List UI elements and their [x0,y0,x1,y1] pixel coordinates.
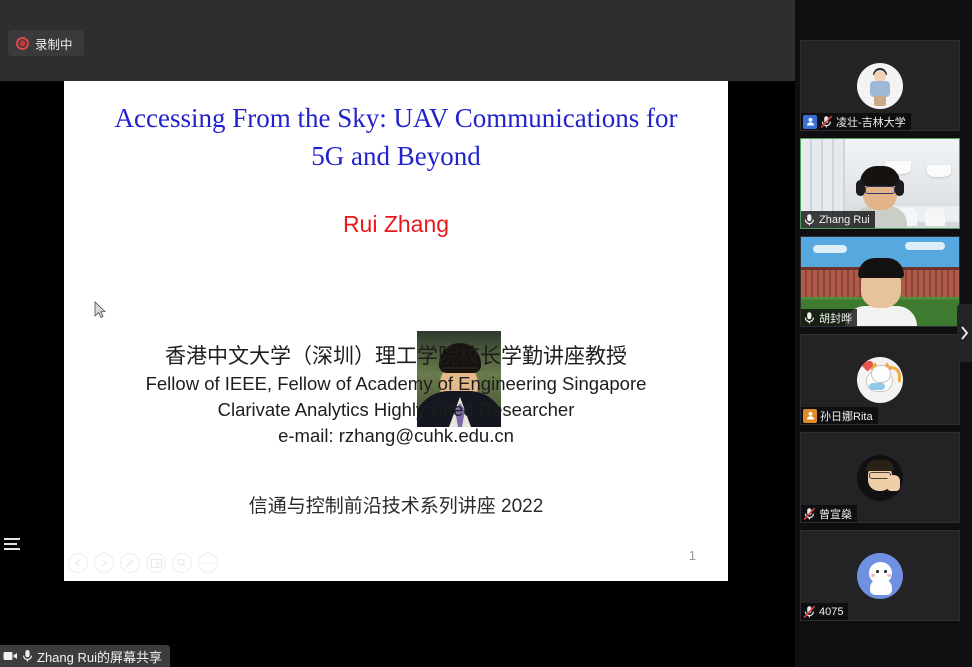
next-slide-icon [100,559,108,567]
zoom-slide-button[interactable] [172,553,192,573]
affiliation-line-2: Clarivate Analytics Highly Cited Researc… [64,397,728,423]
avatar [857,63,903,109]
affiliation-email: e-mail: rzhang@cuhk.edu.cn [64,423,728,449]
microphone-muted-icon [803,605,816,619]
participant-tile[interactable]: 胡封晔 [800,236,960,327]
recording-dot-icon [16,37,29,50]
slide-overview-button[interactable] [146,553,166,573]
next-slide-button[interactable] [94,553,114,573]
participant-name: 凌壮-吉林大学 [836,114,906,130]
chevron-right-icon [960,326,969,340]
grid-icon [151,559,162,568]
screen-share-owner-label: Zhang Rui的屏幕共享 [37,647,162,666]
pen-icon [125,558,135,568]
camera-icon [3,650,18,662]
microphone-muted-icon [820,115,833,129]
previous-slide-button[interactable] [68,553,88,573]
microphone-muted-icon [803,507,816,521]
affiliation-chinese: 香港中文大学（深圳）理工学院校长学勤讲座教授 [64,343,728,371]
participant-name: 曾宣燊 [819,506,852,522]
participant-tile[interactable]: 4075 [800,530,960,621]
avatar [857,553,903,599]
microphone-icon [22,649,33,663]
previous-slide-icon [74,559,82,567]
participant-namebar: 曾宣燊 [801,505,857,522]
screen-share-owner-bar: Zhang Rui的屏幕共享 [0,645,170,667]
person-icon [806,117,815,126]
more-options-button[interactable] [198,553,218,573]
participant-namebar: 凌壮-吉林大学 [801,113,911,130]
participant-name: 孙日娜Rita [820,408,873,424]
participant-namebar: Zhang Rui [801,211,875,228]
person-icon [806,411,815,420]
zoom-meeting-window: 录制中 Accessing From the Sky: UAV Communic… [0,0,972,667]
recording-indicator[interactable]: 录制中 [8,30,84,56]
slide-series-label: 信通与控制前沿技术系列讲座 2022 [64,491,728,518]
slide-page-number: 1 [689,548,696,563]
participant-tile[interactable]: 孙日娜Rita [800,334,960,425]
microphone-icon [803,213,816,227]
participant-name: 4075 [819,606,843,618]
participant-namebar: 4075 [801,603,848,620]
shared-screen-area: 录制中 Accessing From the Sky: UAV Communic… [0,0,795,667]
slide-list-icon[interactable] [4,538,20,552]
avatar [857,455,903,501]
affiliation-line-1: Fellow of IEEE, Fellow of Academy of Eng… [64,371,728,397]
participant-name: 胡封晔 [819,310,852,326]
participant-namebar: 胡封晔 [801,309,857,326]
cohost-badge [803,409,817,423]
share-toolbar-strip [0,0,795,81]
participant-tile[interactable]: Zhang Rui [800,138,960,229]
letterbox-right [728,81,795,581]
letterbox-left [0,81,64,581]
pen-annotation-button[interactable] [120,553,140,573]
slide-author: Rui Zhang [64,211,728,238]
participant-namebar: 孙日娜Rita [801,407,878,424]
participant-tile[interactable]: 凌壮-吉林大学 [800,40,960,131]
collapse-filmstrip-button[interactable] [957,304,972,362]
magnifier-icon [177,558,187,568]
avatar [857,357,903,403]
recording-label: 录制中 [35,34,73,53]
participant-name: Zhang Rui [819,214,870,226]
ellipsis-icon [202,561,214,565]
mouse-cursor [94,301,106,319]
presentation-slide[interactable]: Accessing From the Sky: UAV Communicatio… [64,81,728,581]
slide-control-bar[interactable] [68,553,218,573]
participant-filmstrip[interactable]: 凌壮-吉林大学 Zhang Rui [795,0,972,667]
slide-title: Accessing From the Sky: UAV Communicatio… [100,99,692,175]
participant-tile[interactable]: 曾宣燊 [800,432,960,523]
slide-affiliation-block: 香港中文大学（深圳）理工学院校长学勤讲座教授 Fellow of IEEE, F… [64,343,728,449]
microphone-icon [803,311,816,325]
host-badge [803,115,817,129]
